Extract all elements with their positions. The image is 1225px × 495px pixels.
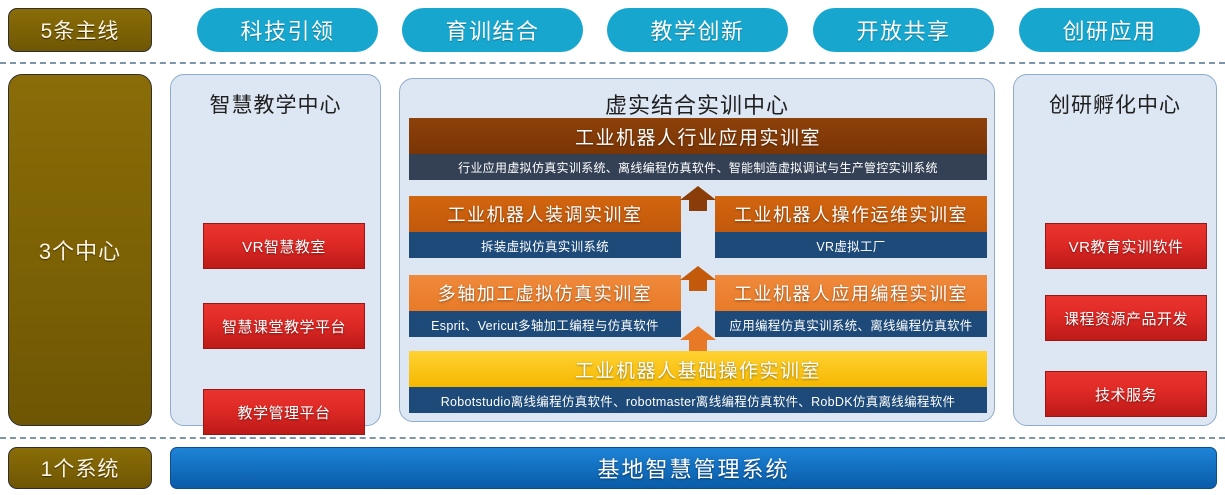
- innovation-item-2-label: 课程资源产品开发: [1064, 308, 1188, 329]
- panel-virtual-real-training-center: 虚实结合实训中心 工业机器人行业应用实训室 行业应用虚拟仿真实训系统、离线编程仿…: [399, 78, 995, 422]
- innovation-item-1-label: VR教育实训软件: [1069, 236, 1184, 257]
- smart-teaching-item-2-label: 智慧课堂教学平台: [222, 316, 346, 337]
- innovation-item-3-label: 技术服务: [1095, 384, 1157, 405]
- marker-one-system[interactable]: 1个系统: [8, 447, 152, 489]
- theme-pill-2-label: 育训结合: [445, 14, 539, 46]
- lab-card-basic-operation-title: 工业机器人基础操作实训室: [409, 351, 987, 387]
- innovation-item-3[interactable]: 技术服务: [1045, 371, 1207, 417]
- lab-card-assembly-debugging[interactable]: 工业机器人装调实训室 拆装虚拟仿真实训系统: [409, 196, 681, 258]
- panel-smart-teaching-center-title: 智慧教学中心: [171, 89, 380, 119]
- panel-innovation-incubation-center: 创研孵化中心 VR教育实训软件 课程资源产品开发 技术服务: [1013, 74, 1217, 426]
- theme-pill-4[interactable]: 开放共享: [813, 8, 994, 52]
- theme-pill-1-label: 科技引领: [240, 14, 334, 46]
- theme-pill-5[interactable]: 创研应用: [1019, 8, 1200, 52]
- system-bar-label: 基地智慧管理系统: [597, 452, 789, 484]
- up-arrow-bottom-icon: [676, 325, 720, 351]
- marker-three-centers-label: 3个中心: [39, 234, 121, 266]
- lab-card-basic-operation[interactable]: 工业机器人基础操作实训室 Robotstudio离线编程仿真软件、robotma…: [409, 351, 987, 413]
- theme-pill-3[interactable]: 教学创新: [607, 8, 788, 52]
- lab-card-application-programming-subtitle: 应用编程仿真实训系统、离线编程仿真软件: [715, 311, 987, 337]
- theme-pill-2[interactable]: 育训结合: [402, 8, 583, 52]
- lab-card-assembly-debugging-title: 工业机器人装调实训室: [409, 196, 681, 232]
- lab-card-operation-maintenance-title: 工业机器人操作运维实训室: [715, 196, 987, 232]
- innovation-item-2[interactable]: 课程资源产品开发: [1045, 295, 1207, 341]
- smart-teaching-item-1-label: VR智慧教室: [242, 236, 326, 257]
- theme-pill-5-label: 创研应用: [1062, 14, 1156, 46]
- lab-card-application-programming-title: 工业机器人应用编程实训室: [715, 275, 987, 311]
- smart-teaching-item-2[interactable]: 智慧课堂教学平台: [203, 303, 365, 349]
- panel-innovation-incubation-center-title: 创研孵化中心: [1014, 89, 1216, 119]
- marker-one-system-label: 1个系统: [41, 453, 120, 483]
- system-bar-base-smart-management[interactable]: 基地智慧管理系统: [170, 447, 1217, 489]
- smart-teaching-item-1[interactable]: VR智慧教室: [203, 223, 365, 269]
- panel-smart-teaching-center: 智慧教学中心 VR智慧教室 智慧课堂教学平台 教学管理平台: [170, 74, 381, 426]
- marker-three-centers[interactable]: 3个中心: [8, 74, 152, 426]
- theme-pill-4-label: 开放共享: [856, 14, 950, 46]
- marker-five-main-lines[interactable]: 5条主线: [8, 8, 152, 52]
- lab-card-basic-operation-subtitle: Robotstudio离线编程仿真软件、robotmaster离线编程仿真软件、…: [409, 387, 987, 413]
- divider-top: [0, 62, 1225, 64]
- theme-pill-3-label: 教学创新: [650, 14, 744, 46]
- lab-card-operation-maintenance[interactable]: 工业机器人操作运维实训室 VR虚拟工厂: [715, 196, 987, 258]
- panel-virtual-real-training-center-title: 虚实结合实训中心: [400, 88, 994, 120]
- lab-card-application-programming[interactable]: 工业机器人应用编程实训室 应用编程仿真实训系统、离线编程仿真软件: [715, 275, 987, 337]
- smart-teaching-item-3[interactable]: 教学管理平台: [203, 389, 365, 435]
- lab-card-multi-axis-machining-subtitle: Esprit、Vericut多轴加工编程与仿真软件: [409, 311, 681, 337]
- divider-bottom: [0, 437, 1225, 439]
- up-arrow-top-icon: [676, 185, 720, 211]
- up-arrow-middle-icon: [676, 265, 720, 291]
- marker-five-main-lines-label: 5条主线: [41, 15, 120, 45]
- theme-pill-1[interactable]: 科技引领: [197, 8, 378, 52]
- lab-card-multi-axis-machining[interactable]: 多轴加工虚拟仿真实训室 Esprit、Vericut多轴加工编程与仿真软件: [409, 275, 681, 337]
- lab-card-multi-axis-machining-title: 多轴加工虚拟仿真实训室: [409, 275, 681, 311]
- lab-card-industry-application-title: 工业机器人行业应用实训室: [409, 118, 987, 154]
- lab-card-industry-application-subtitle: 行业应用虚拟仿真实训系统、离线编程仿真软件、智能制造虚拟调试与生产管控实训系统: [409, 154, 987, 180]
- lab-card-operation-maintenance-subtitle: VR虚拟工厂: [715, 232, 987, 258]
- lab-card-industry-application[interactable]: 工业机器人行业应用实训室 行业应用虚拟仿真实训系统、离线编程仿真软件、智能制造虚…: [409, 118, 987, 180]
- innovation-item-1[interactable]: VR教育实训软件: [1045, 223, 1207, 269]
- lab-card-assembly-debugging-subtitle: 拆装虚拟仿真实训系统: [409, 232, 681, 258]
- smart-teaching-item-3-label: 教学管理平台: [237, 402, 330, 423]
